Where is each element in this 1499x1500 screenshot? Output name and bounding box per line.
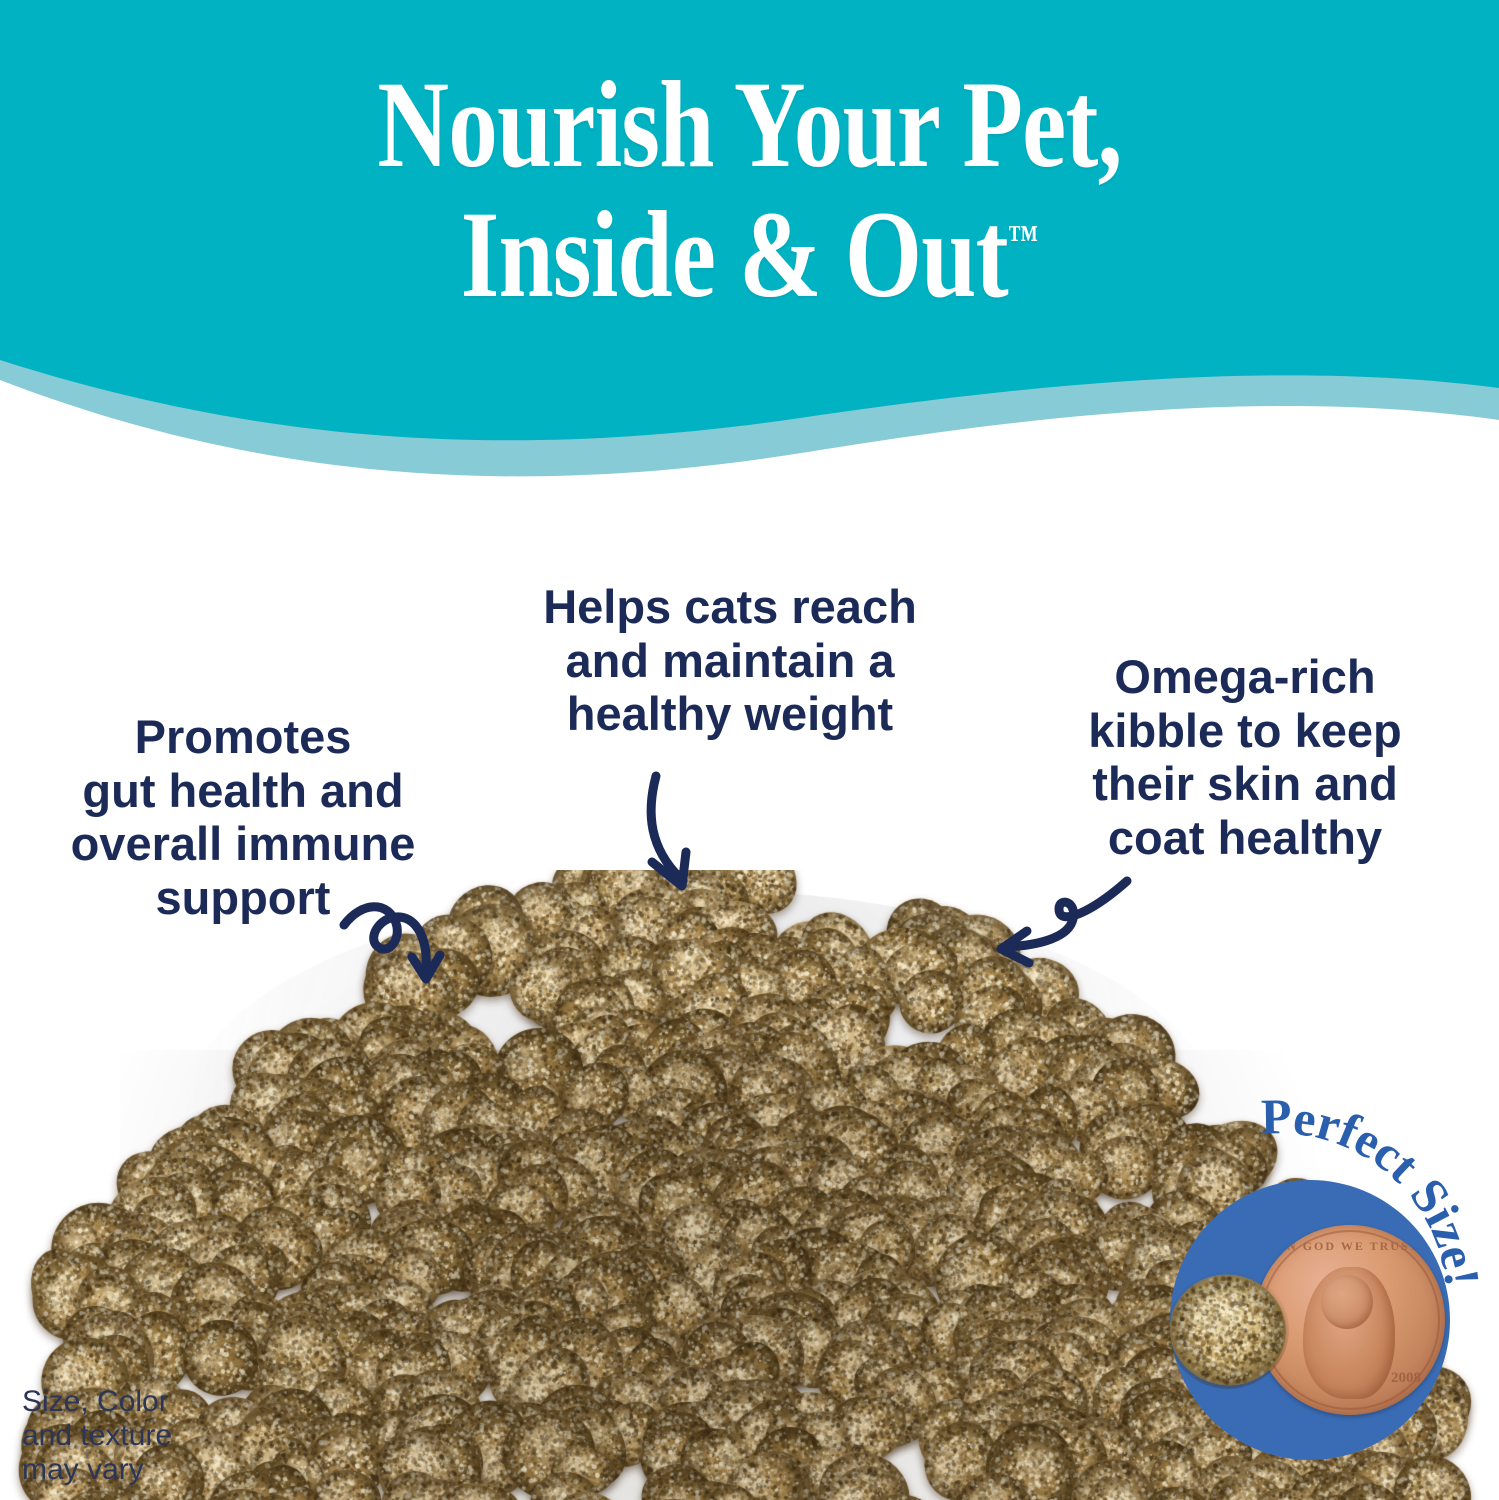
arrow-right-icon	[985, 875, 1135, 985]
disclaimer-text: Size, Color and texture may vary	[22, 1385, 232, 1487]
page-title: Nourish Your Pet, Inside & Out™	[0, 62, 1499, 319]
callout-right-line-3: their skin and	[1010, 757, 1480, 811]
badge-label-text: Perfect Size!	[1260, 1088, 1491, 1289]
disclaimer-line-1: Size, Color	[22, 1385, 232, 1419]
trademark-symbol: ™	[1008, 218, 1038, 260]
product-infographic: Nourish Your Pet, Inside & Out™ Promotes…	[0, 0, 1499, 1500]
healthy-weight-callout: Helps cats reach and maintain a healthy …	[470, 580, 990, 741]
header-banner: Nourish Your Pet, Inside & Out™	[0, 0, 1499, 500]
arrow-middle-icon	[630, 770, 740, 910]
headline-line-2: Inside & Out™	[150, 192, 1349, 318]
headline-line-1: Nourish Your Pet,	[150, 62, 1349, 188]
disclaimer-line-2: and texture	[22, 1419, 232, 1453]
callout-mid-line-3: healthy weight	[470, 687, 990, 741]
callout-right-line-2: kibble to keep	[1010, 704, 1480, 758]
callout-left-line-2: gut health and	[10, 764, 476, 818]
callout-mid-line-2: and maintain a	[470, 634, 990, 688]
callout-mid-line-1: Helps cats reach	[470, 580, 990, 634]
arrow-left-icon	[338, 895, 468, 1015]
callout-right-line-4: coat healthy	[1010, 811, 1480, 865]
omega-rich-callout: Omega-rich kibble to keep their skin and…	[1010, 650, 1480, 864]
callout-right-line-1: Omega-rich	[1010, 650, 1480, 704]
callout-left-line-1: Promotes	[10, 710, 476, 764]
callout-left-line-3: overall immune	[10, 817, 476, 871]
badge-curved-label: Perfect Size!	[1145, 1075, 1499, 1445]
disclaimer-line-3: may vary	[22, 1453, 232, 1487]
perfect-size-badge: IN GOD WE TRUST 2008 Perfect Size!	[1145, 1075, 1499, 1445]
gut-health-callout: Promotes gut health and overall immune s…	[10, 710, 476, 924]
